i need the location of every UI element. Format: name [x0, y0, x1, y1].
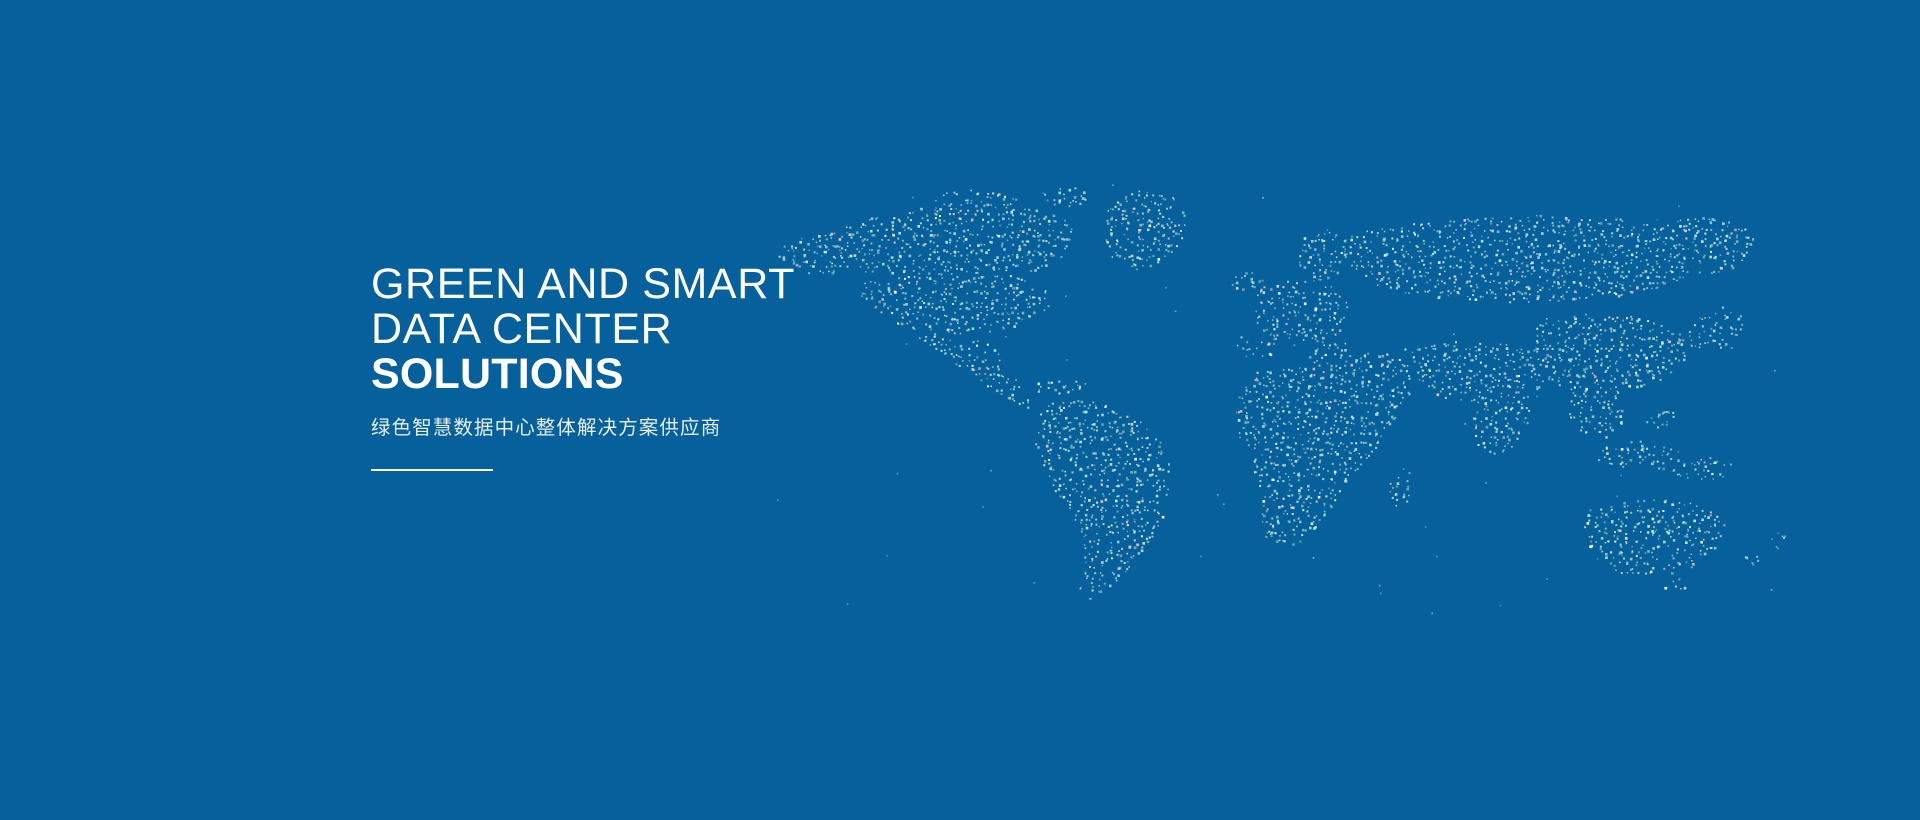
- dotted-world-map: [0, 0, 1920, 820]
- hero-banner: GREEN AND SMART DATA CENTER SOLUTIONS 绿色…: [0, 0, 1920, 820]
- headline-line-1: GREEN AND SMART: [371, 262, 891, 307]
- page-title: GREEN AND SMART DATA CENTER SOLUTIONS: [371, 262, 891, 397]
- hero-subtitle: 绿色智慧数据中心整体解决方案供应商: [371, 397, 891, 441]
- headline-line-3: SOLUTIONS: [371, 352, 891, 397]
- headline-line-2: DATA CENTER: [371, 307, 891, 352]
- hero-text-block: GREEN AND SMART DATA CENTER SOLUTIONS 绿色…: [371, 262, 891, 471]
- divider-rule: [371, 469, 493, 471]
